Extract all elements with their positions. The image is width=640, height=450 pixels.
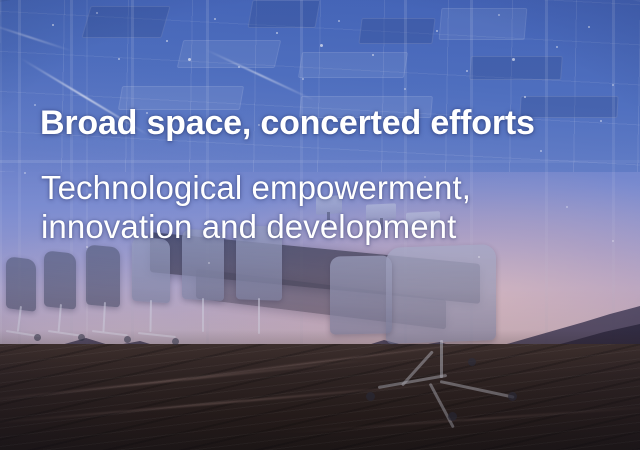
star-particle-layer	[0, 0, 640, 450]
hero-banner: Broad space, concerted efforts Technolog…	[0, 0, 640, 450]
